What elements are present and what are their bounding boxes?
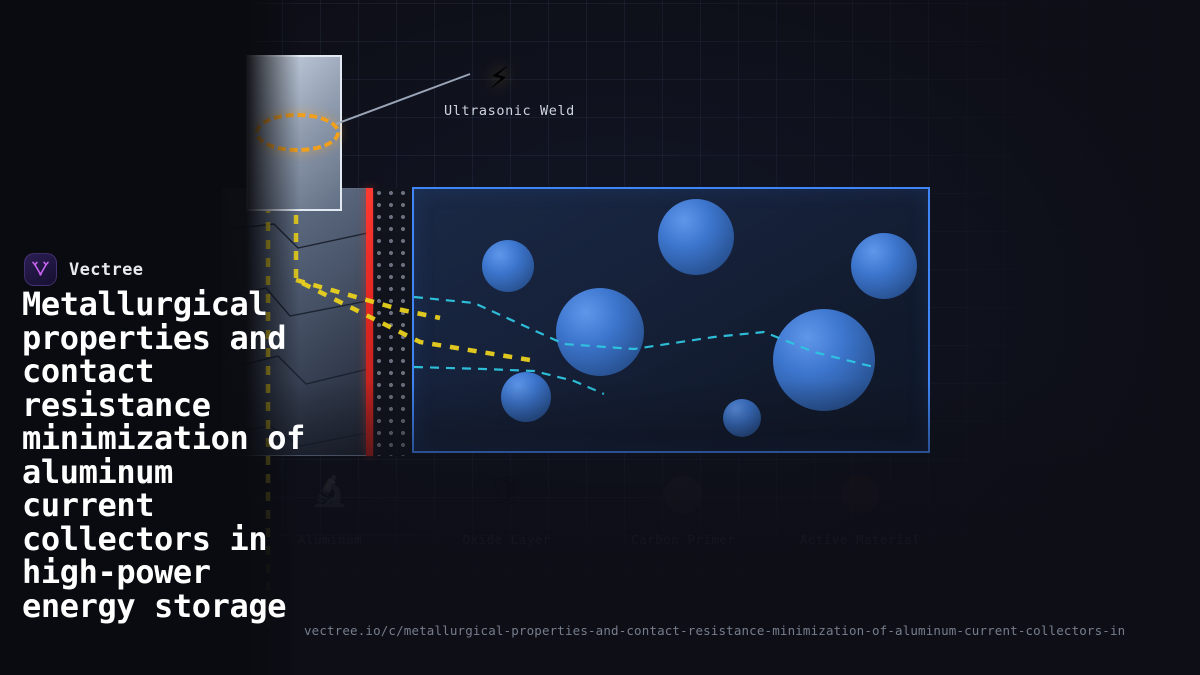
brand-name: Vectree — [69, 260, 143, 280]
ultrasonic-weld-label: Ultrasonic Weld — [444, 103, 575, 119]
legend-item-oxide-layer: 🛡 Oxide Layer — [427, 472, 587, 547]
electron-path-overlay — [414, 189, 928, 451]
lightning-bolt-icon: ⚡ — [489, 60, 509, 94]
carbon-primer-band — [374, 188, 412, 456]
active-material-region — [412, 187, 930, 453]
brand: Vectree — [24, 253, 143, 286]
weld-zone-ellipse — [255, 113, 340, 152]
logo-glyph — [31, 260, 50, 279]
legend-item-active-material: Active Material — [780, 472, 940, 547]
active-material-swatch — [780, 472, 940, 520]
oxide-layer-bar — [366, 188, 373, 456]
carbon-primer-swatch — [603, 472, 763, 520]
annotation-leader-line — [336, 70, 476, 130]
legend-item-carbon-primer: Carbon Primer — [603, 472, 763, 547]
source-url: vectree.io/c/metallurgical-properties-an… — [304, 623, 1200, 638]
vectree-v-tree-icon — [24, 253, 57, 286]
legend-label-active-material: Active Material — [780, 532, 940, 547]
shield-icon: 🛡 — [427, 472, 587, 520]
legend-label-oxide-layer: Oxide Layer — [427, 532, 587, 547]
layer-legend: 🔬 Aluminum 🛡 Oxide Layer Carbon Primer A… — [250, 472, 940, 547]
legend-label-carbon-primer: Carbon Primer — [603, 532, 763, 547]
page-title: Metallurgical properties and contact res… — [22, 288, 318, 623]
share-card: ⚡ Ultrasonic Weld 🔬 Aluminum 🛡 Oxide Lay… — [0, 0, 1200, 675]
